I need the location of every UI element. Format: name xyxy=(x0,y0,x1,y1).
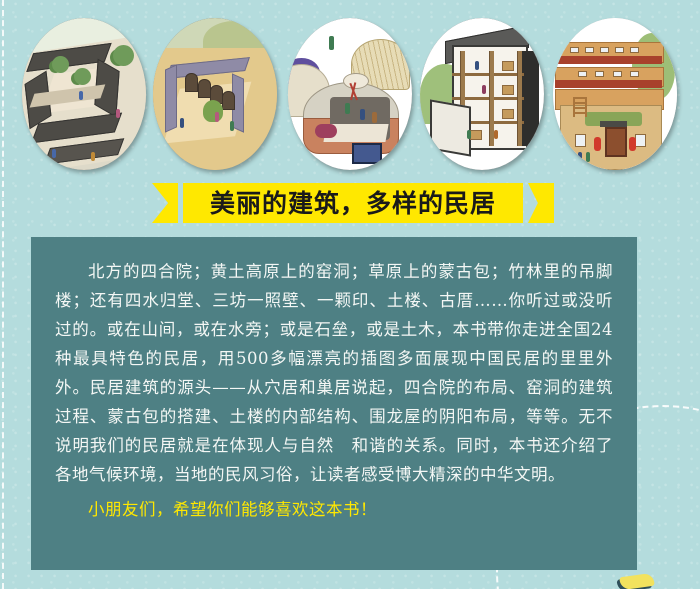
description-panel: 北方的四合院；黄土高原上的窑洞；草原上的蒙古包；竹林里的吊脚楼；还有四水归堂、三… xyxy=(31,237,637,570)
yaodong-illustration xyxy=(153,18,277,170)
illustration-oval-tulou xyxy=(553,18,677,170)
illustration-oval-yaodong xyxy=(153,18,277,170)
mongolian-yurt-illustration xyxy=(288,18,412,170)
ribbon-right-tail-icon xyxy=(528,183,554,223)
illustration-oval-siheyuan xyxy=(22,18,146,170)
description-paragraph: 北方的四合院；黄土高原上的窑洞；草原上的蒙古包；竹林里的吊脚楼；还有四水归堂、三… xyxy=(55,257,613,489)
ribbon-left-tail-icon xyxy=(152,183,178,223)
illustration-gallery xyxy=(0,18,700,173)
ribbon-band: 美丽的建筑，多样的民居 xyxy=(183,183,523,223)
page-root: 美丽的建筑，多样的民居 北方的四合院；黄土高原上的窑洞；草原上的蒙古包；竹林里的… xyxy=(0,0,700,589)
tulou-illustration xyxy=(553,18,677,170)
illustration-oval-mongolian-yurt xyxy=(288,18,412,170)
illustration-oval-wooden-house-cutaway xyxy=(420,18,544,170)
page-title: 美丽的建筑，多样的民居 xyxy=(210,191,496,216)
wooden-house-cutaway-illustration xyxy=(420,18,544,170)
closing-message: 小朋友们，希望你们能够喜欢这本书！ xyxy=(55,495,613,524)
title-ribbon: 美丽的建筑，多样的民居 xyxy=(152,183,554,223)
siheyuan-illustration xyxy=(22,18,146,170)
